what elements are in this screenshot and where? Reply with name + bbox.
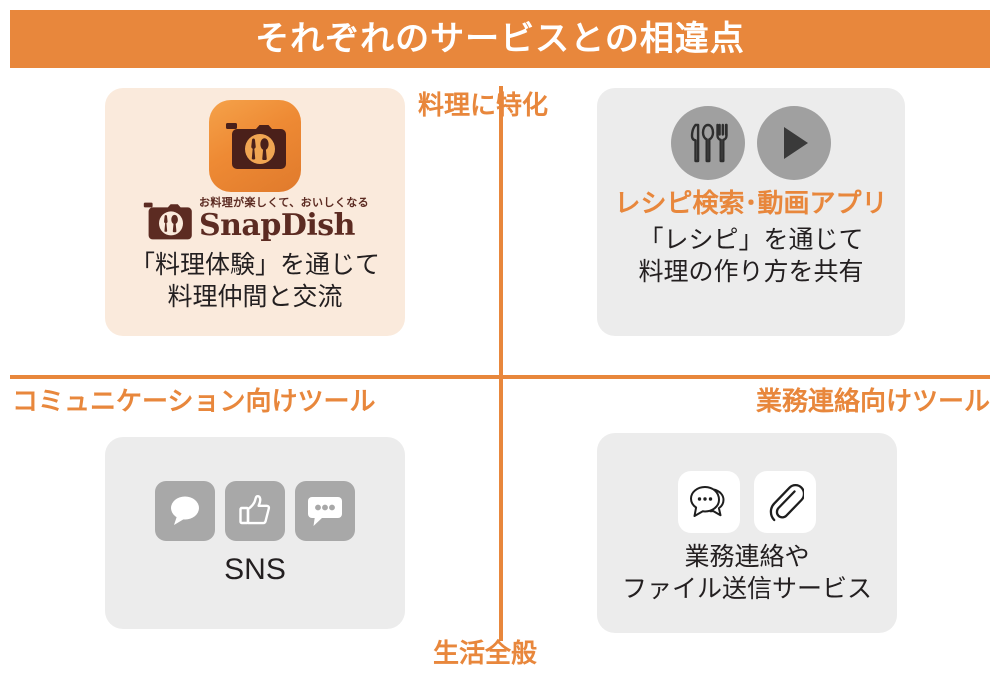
axis-label-top: 料理に特化 bbox=[418, 92, 548, 118]
axis-label-bottom: 生活全般 bbox=[433, 640, 537, 666]
quadrant-card-business-tools[interactable]: 業務連絡や ファイル送信サービス bbox=[597, 433, 897, 633]
thumbs-up-icon-badge bbox=[225, 481, 285, 541]
chat-dots-icon-badge bbox=[295, 481, 355, 541]
recipe-app-heading: レシピ検索･動画アプリ bbox=[614, 190, 887, 216]
quadrant-card-recipe-apps[interactable]: レシピ検索･動画アプリ 「レシピ」を通じて 料理の作り方を共有 bbox=[597, 88, 905, 336]
axis-label-right: 業務連絡向けツール bbox=[756, 388, 990, 414]
play-icon-badge[interactable] bbox=[757, 106, 831, 180]
snapdish-description: 「料理体験」を通じて 料理仲間と交流 bbox=[130, 249, 380, 313]
cutlery-icon-badge bbox=[671, 106, 745, 180]
paperclip-icon-badge bbox=[754, 471, 816, 533]
vertical-axis-line bbox=[499, 86, 503, 641]
business-tools-description: 業務連絡や ファイル送信サービス bbox=[622, 541, 872, 605]
snapdish-wordmark-text: お料理が楽しくて、おいしくなる SnapDish bbox=[199, 198, 369, 241]
business-icon-row bbox=[678, 471, 816, 533]
snapdish-wordmark: お料理が楽しくて、おいしくなる SnapDish bbox=[141, 198, 369, 241]
snapdish-logo-name: SnapDish bbox=[199, 211, 355, 241]
axis-label-left: コミュニケーション向けツール bbox=[12, 388, 375, 414]
thumbs-up-icon bbox=[237, 493, 273, 529]
snapdish-app-icon bbox=[209, 100, 301, 192]
chat-dots-icon bbox=[306, 494, 344, 528]
play-icon bbox=[774, 121, 814, 165]
chat-bubbles-icon-badge bbox=[678, 471, 740, 533]
sns-label: SNS bbox=[224, 555, 286, 585]
recipe-app-description: 「レシピ」を通じて 料理の作り方を共有 bbox=[638, 224, 863, 288]
page-title: それぞれのサービスとの相違点 bbox=[255, 22, 745, 56]
horizontal-axis-line bbox=[10, 375, 990, 379]
paperclip-icon bbox=[766, 482, 804, 522]
quadrant-card-sns[interactable]: SNS bbox=[105, 437, 405, 629]
speech-bubble-icon-badge bbox=[155, 481, 215, 541]
camera-icon bbox=[224, 121, 286, 171]
recipe-icon-row bbox=[671, 106, 831, 180]
snapdish-camera-logo-icon bbox=[141, 201, 193, 241]
cutlery-icon bbox=[688, 121, 728, 165]
header-banner: それぞれのサービスとの相違点 bbox=[10, 10, 990, 68]
speech-bubble-icon bbox=[167, 494, 203, 528]
chat-bubbles-icon bbox=[689, 483, 729, 521]
quadrant-card-snapdish[interactable]: お料理が楽しくて、おいしくなる SnapDish 「料理体験」を通じて 料理仲間… bbox=[105, 88, 405, 336]
sns-icon-row bbox=[155, 481, 355, 541]
